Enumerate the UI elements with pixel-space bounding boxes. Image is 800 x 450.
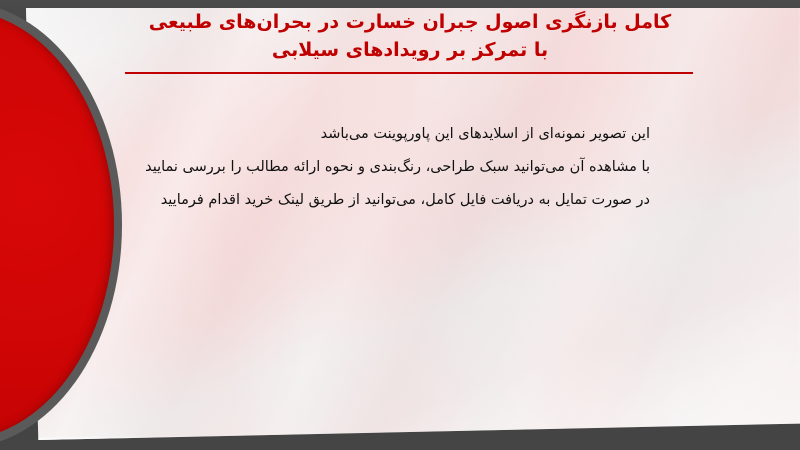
body-line-1: این تصویر نمونه‌ای از اسلایدهای این پاور… <box>130 118 650 151</box>
slide-title: کامل بازنگری اصول جبران خسارت در بحران‌ه… <box>120 8 700 64</box>
body-line-2: با مشاهده آن می‌توانید سبک طراحی، رنگ‌بن… <box>130 151 650 184</box>
title-underline-rule <box>125 72 693 74</box>
slide-title-line-1: کامل بازنگری اصول جبران خسارت در بحران‌ه… <box>120 8 700 36</box>
slide-canvas: کامل بازنگری اصول جبران خسارت در بحران‌ه… <box>0 0 800 450</box>
slide-body-text: این تصویر نمونه‌ای از اسلایدهای این پاور… <box>130 118 650 217</box>
body-line-3: در صورت تمایل به دریافت فایل کامل، می‌تو… <box>130 184 650 217</box>
slide-title-line-2: با تمرکز بر رویدادهای سیلابی <box>120 36 700 64</box>
